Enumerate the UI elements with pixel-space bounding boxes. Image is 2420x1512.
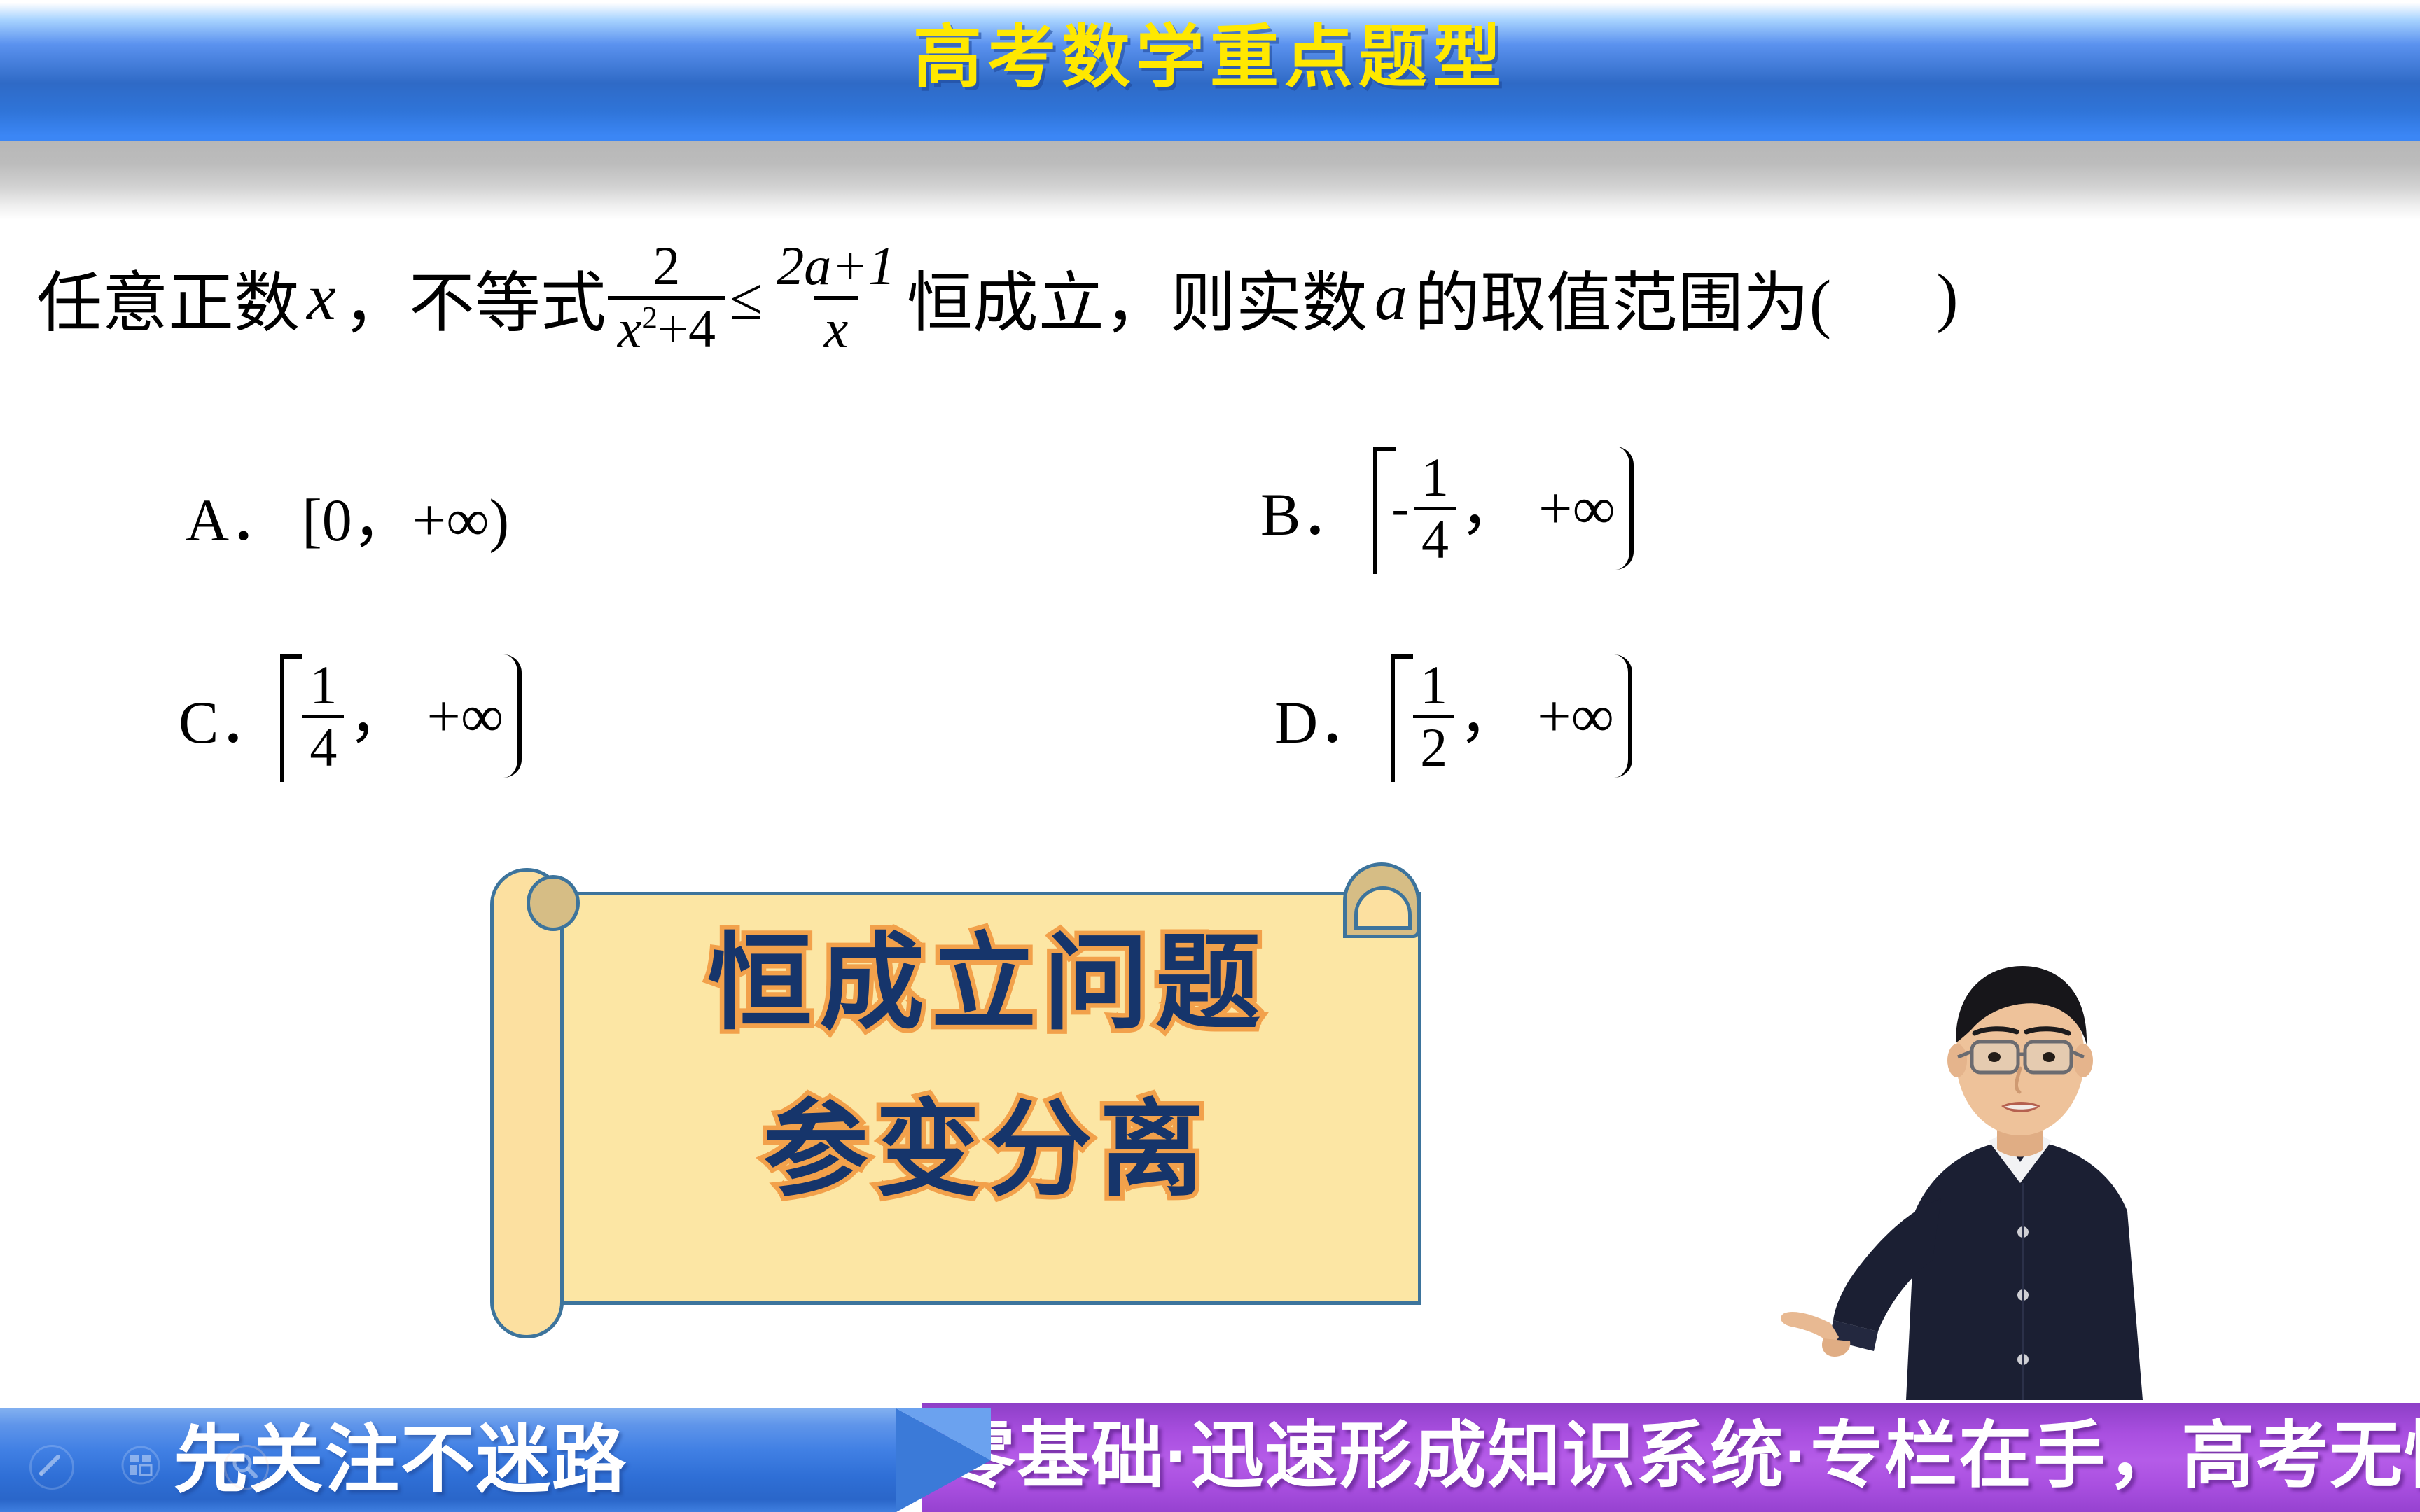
- option-b-fraction: 1 4: [1410, 450, 1460, 567]
- right-bracket-icon: [503, 654, 522, 778]
- denominator-rest: +4: [658, 298, 716, 359]
- denominator-exponent: 2: [641, 300, 658, 335]
- option-c-interval: 1 4 ， +∞: [280, 654, 522, 778]
- fraction-right-denominator: x: [814, 296, 858, 356]
- question-variable-a: a: [1368, 260, 1414, 335]
- option-d-numerator: 1: [1413, 658, 1454, 715]
- option-d-infinity: +∞: [1519, 686, 1614, 746]
- fraction-right-numerator: 2a+1: [767, 239, 905, 295]
- option-c-fraction: 1 4: [298, 658, 348, 775]
- scroll-title-line1: 恒成立问题: [574, 927, 1400, 1039]
- slide-canvas: 高考数学重点题型 任意正数 x ，不等式 2 x2+4 ≤ 2a+1 x 恒成立…: [0, 0, 2420, 1512]
- left-bracket-icon: [1373, 447, 1391, 570]
- follow-ribbon[interactable]: 先关注不迷路: [0, 1408, 994, 1512]
- left-bracket-icon: [280, 654, 298, 778]
- denominator-base: x: [618, 298, 642, 359]
- question-middle: 恒成立，则实数: [907, 250, 1368, 345]
- right-bracket-icon: [1615, 447, 1634, 570]
- presenter-figure: [1779, 931, 2262, 1400]
- option-c-label: C．: [179, 673, 280, 760]
- fraction-left-denominator: x2+4: [608, 296, 725, 356]
- question-prefix: 任意正数: [36, 250, 300, 345]
- fraction-left-numerator: 2: [643, 239, 690, 295]
- option-d[interactable]: D． 1 2 ， +∞: [1274, 654, 1632, 778]
- promo-banner-text: 零基础·迅速形成知识系统·专栏在手，高考无忧: [943, 1414, 2420, 1498]
- question-variable-x: x: [300, 260, 343, 335]
- rhs-denominator-text: x: [824, 298, 849, 359]
- relation-symbol: ≤: [727, 264, 765, 334]
- follow-ribbon-arrow-highlight: [896, 1408, 991, 1460]
- option-d-separator: ，: [1459, 686, 1519, 746]
- layout-glyph: [120, 1445, 161, 1485]
- scroll-roll-left-inner: [527, 875, 580, 931]
- search-icon[interactable]: [224, 1445, 269, 1490]
- rhs-numerator-text: 2a+1: [777, 235, 896, 296]
- header-shadow-strip: [0, 141, 2420, 220]
- option-d-denominator: 2: [1413, 715, 1454, 775]
- left-bracket-icon: [1391, 654, 1409, 778]
- question-close-paren: ): [1936, 260, 1958, 335]
- question-statement: 任意正数 x ，不等式 2 x2+4 ≤ 2a+1 x 恒成立，则实数 a 的取…: [36, 231, 2403, 364]
- fraction-left: 2 x2+4: [608, 239, 725, 356]
- option-a-label: A．: [186, 470, 302, 558]
- question-comma-1: ，不等式: [343, 250, 606, 345]
- option-b-infinity: +∞: [1520, 478, 1615, 538]
- option-b[interactable]: B． - 1 4 ， +∞: [1260, 447, 1634, 570]
- scroll-title-line2: 参变分离: [574, 1093, 1400, 1205]
- option-d-fraction: 1 2: [1409, 658, 1459, 775]
- option-c-denominator: 4: [302, 715, 344, 775]
- fraction-right: 2a+1 x: [767, 239, 905, 356]
- question-suffix: 的取值范围为(: [1414, 250, 1831, 345]
- search-glyph: [226, 1447, 263, 1483]
- option-b-numerator: 1: [1414, 450, 1456, 507]
- right-bracket-icon: [1614, 654, 1632, 778]
- option-c[interactable]: C． 1 4 ， +∞: [179, 654, 522, 778]
- pen-icon[interactable]: [29, 1445, 74, 1490]
- option-b-label: B．: [1260, 465, 1373, 552]
- option-c-infinity: +∞: [408, 686, 503, 746]
- promo-banner: 零基础·迅速形成知识系统·专栏在手，高考无忧: [922, 1403, 2420, 1512]
- option-a-value: [0，+∞): [302, 470, 509, 558]
- scroll-roll-left: [490, 868, 564, 1338]
- option-b-separator: ，: [1460, 478, 1520, 538]
- option-b-denominator: 4: [1414, 507, 1456, 567]
- scroll-banner: 恒成立问题 参变分离: [490, 862, 1421, 1338]
- option-c-numerator: 1: [302, 658, 344, 715]
- layout-icon[interactable]: [120, 1445, 161, 1485]
- option-b-interval: - 1 4 ， +∞: [1373, 447, 1633, 570]
- option-d-interval: 1 2 ， +∞: [1391, 654, 1632, 778]
- option-c-separator: ，: [348, 686, 408, 746]
- page-title: 高考数学重点题型: [0, 15, 2420, 98]
- option-a[interactable]: A． [0，+∞): [186, 470, 509, 558]
- pen-glyph: [32, 1447, 68, 1483]
- option-d-label: D．: [1274, 673, 1391, 760]
- presenter-illustration: [1779, 931, 2262, 1400]
